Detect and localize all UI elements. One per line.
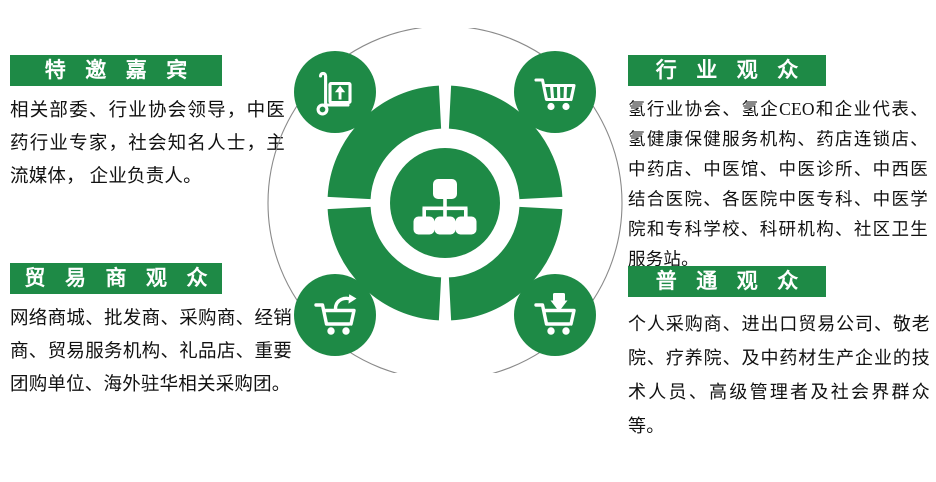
satellite-circle-bottom-right: [514, 274, 596, 356]
satellite-circle-bottom-left: [294, 274, 376, 356]
panel-title-special-guests: 特 邀 嘉 宾: [10, 55, 222, 86]
panel-body-industry-visitors: 氢行业协会、氢企CEO和企业代表、氢健康保健服务机构、药店连锁店、中药店、中医馆…: [628, 94, 928, 274]
satellite-bottom-left: [294, 274, 376, 356]
satellite-top-left: [294, 51, 376, 133]
satellite-circle-top-left: [294, 51, 376, 133]
infographic-canvas: 特 邀 嘉 宾 相关部委、行业协会领导，中医药行业专家，社会知名人士，主流媒体，…: [0, 0, 936, 482]
panel-industry-visitors: 行 业 观 众 氢行业协会、氢企CEO和企业代表、氢健康保健服务机构、药店连锁店…: [628, 55, 928, 274]
panel-title-general-visitors: 普 通 观 众: [628, 266, 826, 297]
panel-general-visitors: 普 通 观 众 个人采购商、进出口贸易公司、敬老院、疗养院、及中药材生产企业的技…: [628, 266, 930, 443]
panel-title-trade-visitors: 贸 易 商 观 众: [10, 263, 222, 294]
panel-body-general-visitors: 个人采购商、进出口贸易公司、敬老院、疗养院、及中药材生产企业的技术人员、高级管理…: [628, 307, 930, 443]
satellite-top-right: [514, 51, 596, 133]
satellite-circle-top-right: [514, 51, 596, 133]
panel-body-special-guests: 相关部委、行业协会领导，中医药行业专家，社会知名人士，主流媒体， 企业负责人。: [10, 95, 285, 194]
central-diagram: [250, 28, 640, 373]
panel-special-guests: 特 邀 嘉 宾 相关部委、行业协会领导，中医药行业专家，社会知名人士，主流媒体，…: [10, 55, 285, 194]
satellite-bottom-right: [514, 274, 596, 356]
panel-title-industry-visitors: 行 业 观 众: [628, 55, 826, 86]
